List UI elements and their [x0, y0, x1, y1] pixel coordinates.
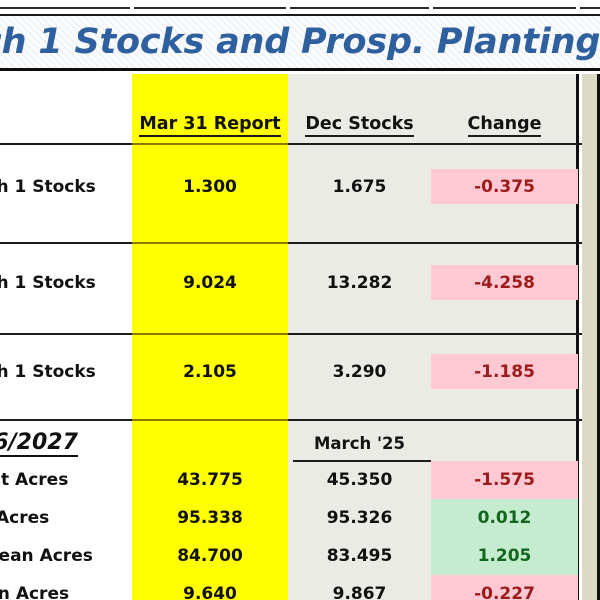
subheader-dec-stocks: March '25: [288, 426, 431, 460]
table-row-change-cell: 1.205: [431, 537, 578, 575]
table-row-label: rch 1 Stocks: [0, 164, 132, 209]
change-chip-positive: 1.205: [431, 537, 578, 575]
change-chip-negative: -1.575: [431, 461, 578, 499]
change-chip-negative: -4.258: [431, 265, 578, 300]
table-row-change-cell: -0.227: [431, 575, 578, 600]
row-rule-3: [0, 419, 582, 421]
row-rule-2: [0, 333, 582, 335]
change-chip-negative: -0.375: [431, 169, 578, 204]
page-title: rch 1 Stocks and Prosp. Plantings: [0, 22, 600, 62]
table-row-dec: 3.290: [288, 349, 431, 394]
table-row-mar31: 2.105: [132, 349, 288, 394]
table-row-change-cell: -4.258: [431, 260, 578, 305]
column-header-change-label: Change: [468, 114, 542, 137]
top-strip: [0, 0, 600, 14]
table-row-mar31: 9.640: [132, 575, 288, 600]
section-title-plantings-label: 26/2027: [0, 430, 78, 457]
table-row-dec: 13.282: [288, 260, 431, 305]
table-row-dec: 83.495: [288, 537, 431, 575]
top-rule-segment-1: [0, 7, 130, 9]
table-row-mar31: 43.775: [132, 461, 288, 499]
row-rule-1: [0, 242, 582, 244]
change-chip-positive: 0.012: [431, 499, 578, 537]
table-row-label: eat Acres: [0, 461, 132, 499]
column-header-dec-stocks: Dec Stocks: [288, 110, 431, 140]
table-row-mar31: 84.700: [132, 537, 288, 575]
column-header-mar31-label: Mar 31 Report: [139, 114, 280, 137]
column-header-dec-stocks-label: Dec Stocks: [305, 114, 413, 137]
column-header-mar31: Mar 31 Report: [132, 110, 288, 140]
header-bottom-rule-yellow: [132, 143, 288, 145]
table-body: Mar 31 Report Dec Stocks Change rch 1 St…: [0, 74, 600, 600]
table-row-dec: 95.326: [288, 499, 431, 537]
row-rule-2-yellow: [132, 333, 288, 335]
top-rule-segment-5: [580, 7, 600, 9]
title-banner: rch 1 Stocks and Prosp. Plantings: [0, 14, 600, 71]
table-row-dec: 1.675: [288, 164, 431, 209]
section-title-plantings: 26/2027: [0, 426, 132, 460]
change-chip-negative: -0.227: [431, 575, 578, 600]
column-header-change: Change: [431, 110, 578, 140]
top-rule-segment-4: [433, 7, 576, 9]
table-row-label: rch 1 Stocks: [0, 260, 132, 305]
table-row-mar31: 95.338: [132, 499, 288, 537]
table-row-mar31: 9.024: [132, 260, 288, 305]
table-row-dec: 45.350: [288, 461, 431, 499]
table-row-change-cell: -1.185: [431, 349, 578, 394]
row-rule-1-yellow: [132, 242, 288, 244]
table-row-label: n Acres: [0, 499, 132, 537]
table-row-mar31: 1.300: [132, 164, 288, 209]
table-row-change-cell: -1.575: [431, 461, 578, 499]
table-row-label: rbean Acres: [0, 537, 132, 575]
header-bottom-rule: [0, 143, 582, 145]
row-rule-3-yellow: [132, 419, 288, 421]
table-row-dec: 9.867: [288, 575, 431, 600]
spreadsheet-screenshot: rch 1 Stocks and Prosp. Plantings Mar 31…: [0, 0, 600, 600]
table-row-label: ton Acres: [0, 575, 132, 600]
table-row-label: rch 1 Stocks: [0, 349, 132, 394]
change-chip-negative: -1.185: [431, 354, 578, 389]
table-row-change-cell: 0.012: [431, 499, 578, 537]
table-row-change-cell: -0.375: [431, 164, 578, 209]
top-rule-segment-3: [290, 7, 429, 9]
top-rule-segment-2: [134, 7, 286, 9]
